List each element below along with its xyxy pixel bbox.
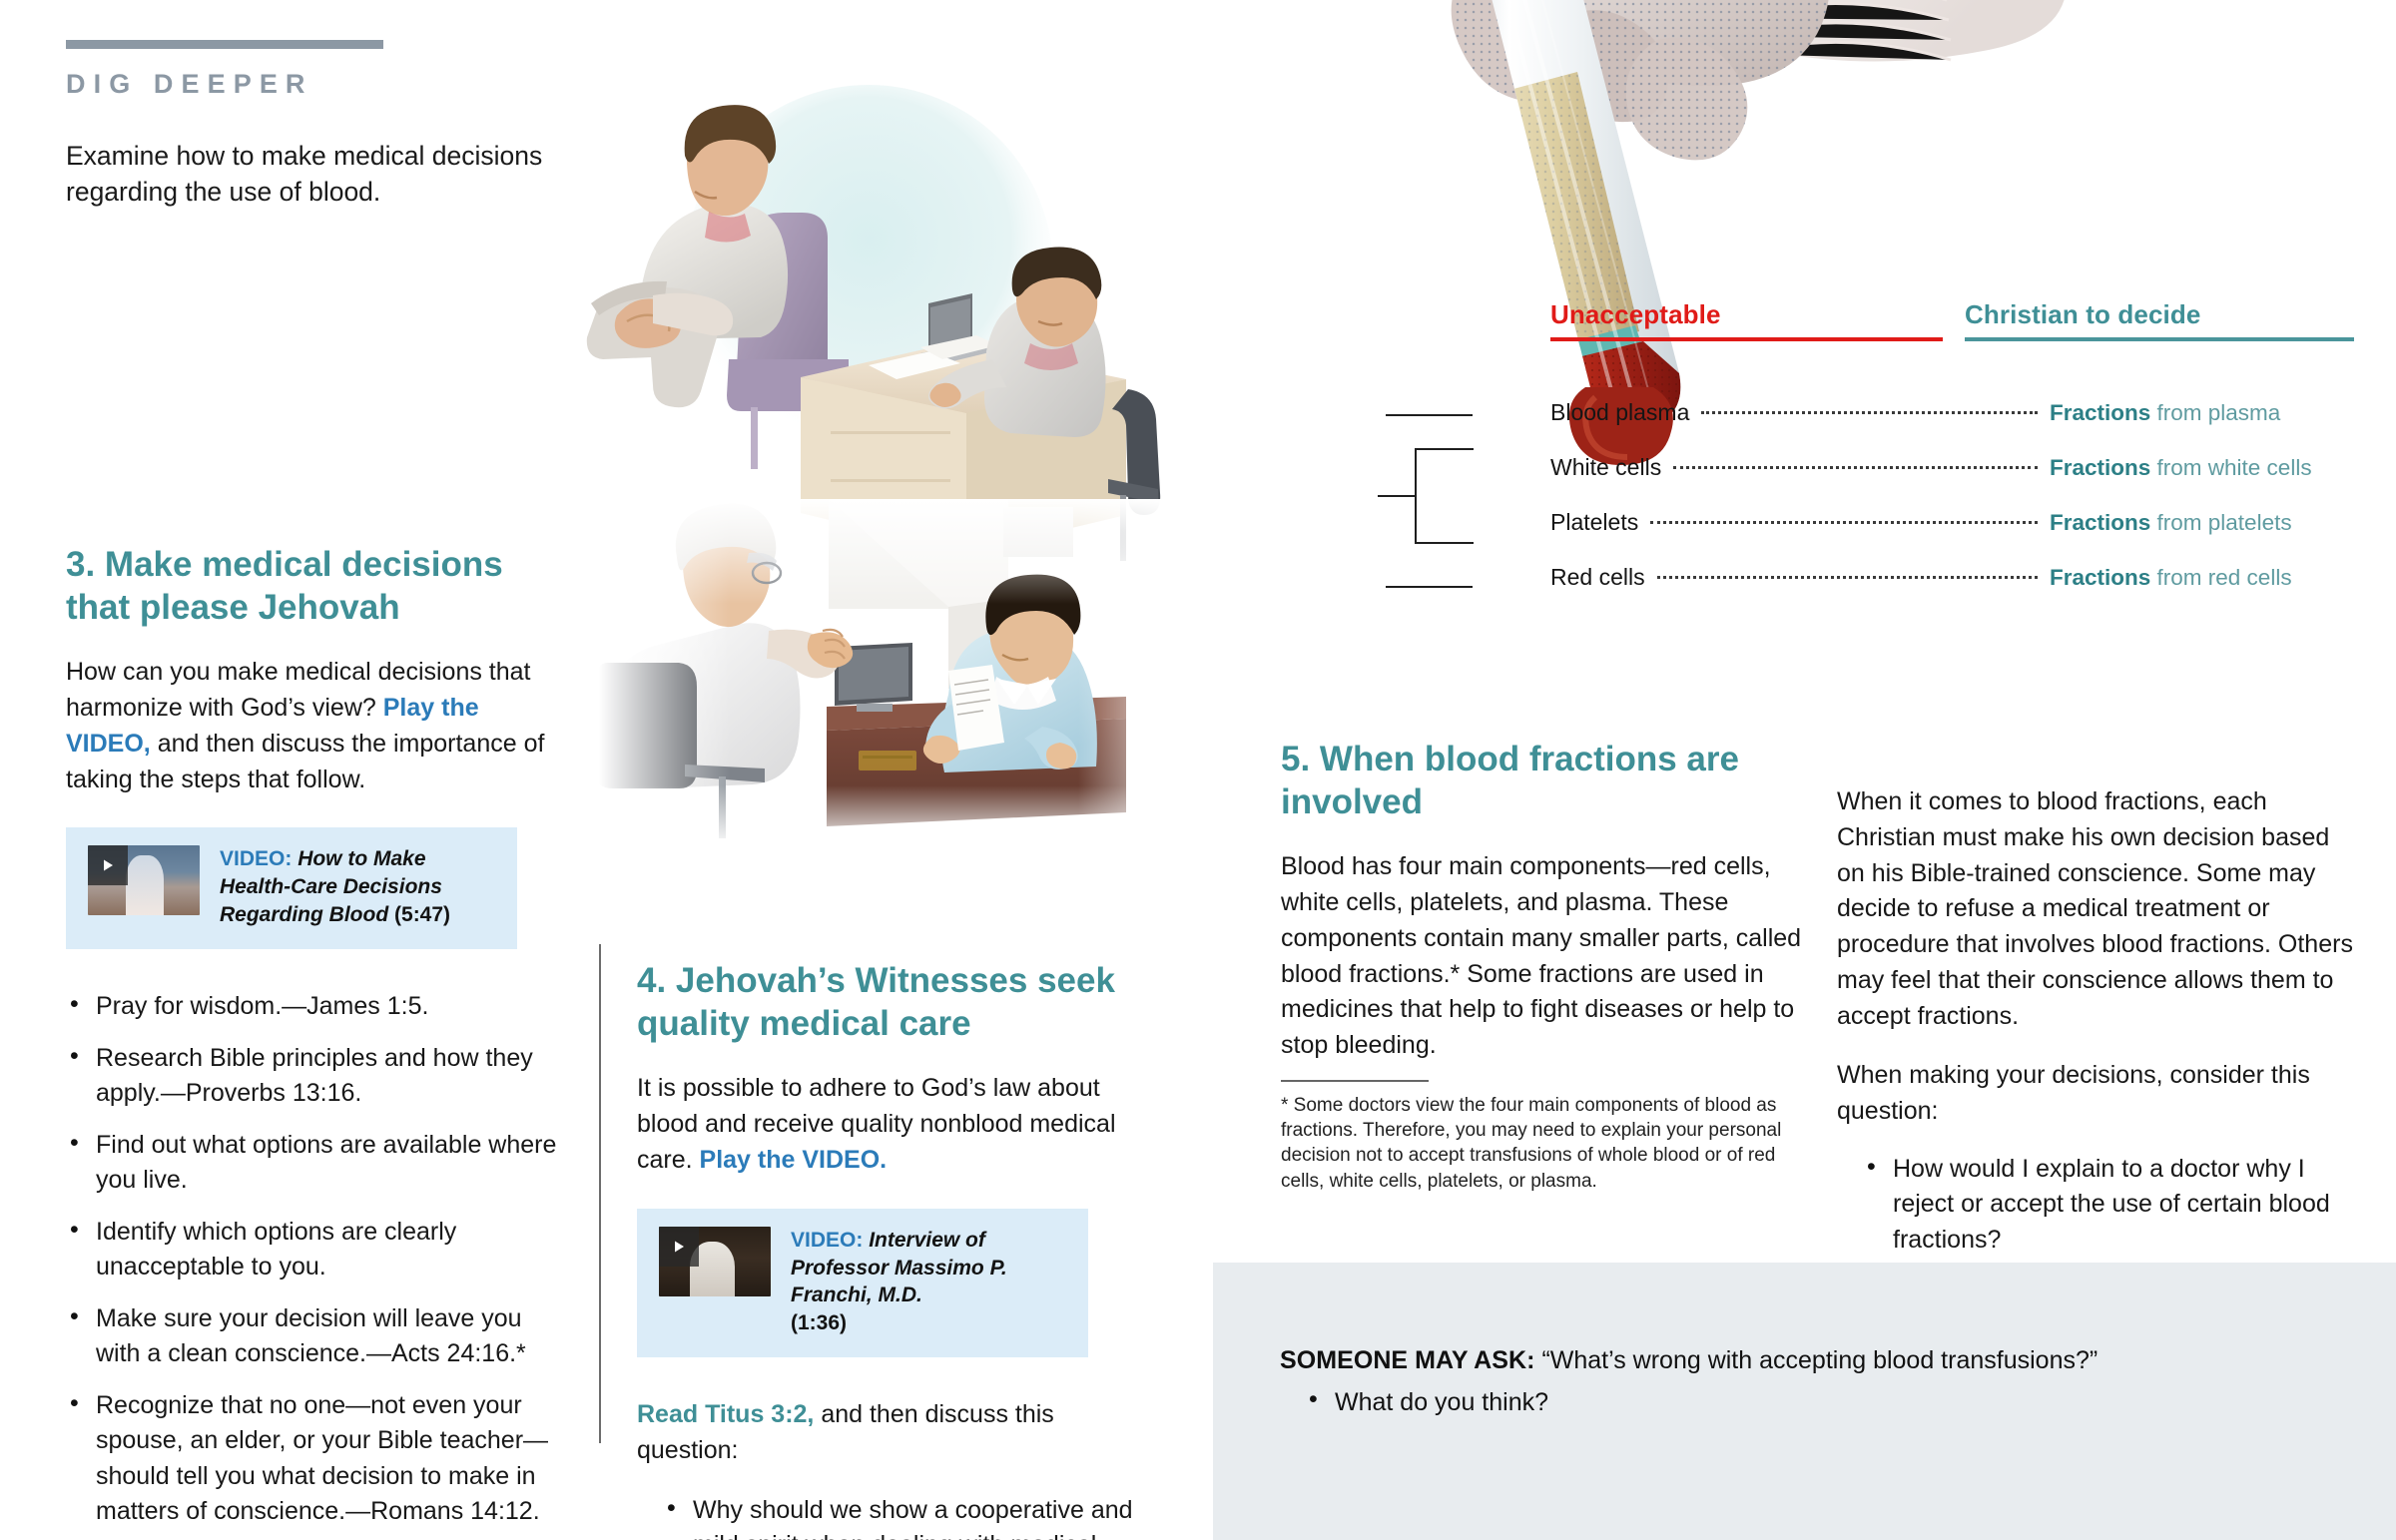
video-thumbnail[interactable] (88, 845, 200, 915)
section-4-bullets: Why should we show a cooperative and mil… (663, 1493, 1148, 1540)
someone-may-ask-bullets: What do you think? (1305, 1388, 1548, 1417)
column-header-christian-to-decide: Christian to decide (1965, 299, 2201, 330)
blood-table-headers: Unacceptable Christian to decide (1550, 299, 2349, 359)
video-card-franchi-interview[interactable]: VIDEO: Interview of Professor Massimo P.… (637, 1209, 1088, 1358)
play-icon[interactable] (659, 1227, 699, 1267)
list-item: Research Bible principles and how they a… (66, 1041, 565, 1112)
section-3-bullets: Pray for wisdom.—James 1:5. Research Bib… (66, 989, 565, 1540)
section-5-heading: 5. When blood fractions are involved (1281, 739, 1810, 823)
list-item: Pray for wisdom.—James 1:5. (66, 989, 565, 1025)
section-4: 4. Jehovah’s Witnesses seek quality medi… (637, 960, 1148, 1540)
section-5: 5. When blood fractions are involved Blo… (1281, 739, 1810, 1194)
play-video-link-4[interactable]: Play the VIDEO. (700, 1146, 888, 1174)
fraction-bold: Fractions (2050, 565, 2150, 590)
video-duration: (1:36) (791, 1311, 847, 1334)
video-label: VIDEO: (220, 847, 292, 870)
section-5-right-paragraph-1: When it comes to blood fractions, each C… (1837, 784, 2356, 1034)
list-item: Find out what options are available wher… (66, 1128, 565, 1199)
list-item: Why should we show a cooperative and mil… (663, 1493, 1148, 1540)
fraction-rest: from platelets (2150, 510, 2291, 535)
fraction-bold: Fractions (2050, 455, 2150, 480)
fraction-cell: Fractions from red cells (2050, 565, 2349, 591)
component-name: Blood plasma (1550, 399, 1689, 426)
section-4-paragraph: It is possible to adhere to God’s law ab… (637, 1071, 1148, 1178)
dot-leader (1657, 576, 2038, 579)
blood-table-rows: Blood plasma Fractions from plasma White… (1550, 399, 2349, 619)
section-3-paragraph: How can you make medical decisions that … (66, 655, 565, 797)
video-label: VIDEO: (791, 1229, 863, 1252)
column-header-unacceptable: Unacceptable (1550, 299, 1721, 330)
table-row: White cells Fractions from white cells (1550, 454, 2349, 509)
fraction-cell: Fractions from platelets (2050, 510, 2349, 536)
section-5-footnote: * Some doctors view the four main compon… (1281, 1093, 1810, 1194)
video-duration: (5:47) (394, 903, 450, 926)
section-3-heading: 3. Make medical decisions that please Je… (66, 544, 565, 629)
play-icon[interactable] (88, 845, 128, 885)
dot-leader (1650, 521, 2038, 524)
list-item: Recognize that no one—not even your spou… (66, 1388, 565, 1530)
someone-may-ask-line: SOMEONE MAY ASK: “What’s wrong with acce… (1280, 1346, 2097, 1375)
someone-may-ask-label: SOMEONE MAY ASK: (1280, 1346, 1534, 1374)
section-5-right-paragraph-2: When making your decisions, consider thi… (1837, 1058, 2356, 1130)
dig-deeper-label: DIG DEEPER (66, 69, 585, 100)
column-divider (599, 944, 601, 1443)
list-item: How would I explain to a doctor why I re… (1863, 1152, 2356, 1259)
table-row: Blood plasma Fractions from plasma (1550, 399, 2349, 454)
footnote-rule (1281, 1080, 1429, 1082)
unacceptable-underline (1550, 337, 1943, 341)
fraction-rest: from white cells (2150, 455, 2311, 480)
section-4-heading: 4. Jehovah’s Witnesses seek quality medi… (637, 960, 1148, 1045)
someone-may-ask-question: “What’s wrong with accepting blood trans… (1541, 1346, 2097, 1374)
table-row: Platelets Fractions from platelets (1550, 509, 2349, 564)
table-row: Red cells Fractions from red cells (1550, 564, 2349, 619)
video-caption: VIDEO: Interview of Professor Massimo P.… (791, 1227, 1066, 1338)
component-name: White cells (1550, 454, 1661, 481)
section-5-paragraph: Blood has four main components—red cells… (1281, 849, 1810, 1064)
fraction-rest: from red cells (2150, 565, 2291, 590)
fraction-bold: Fractions (2050, 400, 2150, 425)
dig-deeper-intro: Examine how to make medical decisions re… (66, 138, 585, 210)
read-titus-link[interactable]: Read Titus 3:2, (637, 1400, 814, 1428)
video-caption: VIDEO: How to Make Health-Care Decisions… (220, 845, 495, 929)
list-item: Identify which options are clearly unacc… (66, 1215, 565, 1285)
fraction-cell: Fractions from plasma (2050, 400, 2349, 426)
christian-underline (1965, 337, 2354, 341)
section-3: 3. Make medical decisions that please Je… (66, 544, 565, 1540)
read-scripture-line: Read Titus 3:2, and then discuss this qu… (637, 1397, 1148, 1469)
video-thumbnail[interactable] (659, 1227, 771, 1296)
fraction-cell: Fractions from white cells (2050, 455, 2349, 481)
list-item: What do you think? (1305, 1388, 1548, 1417)
fraction-rest: from plasma (2150, 400, 2280, 425)
component-name: Red cells (1550, 564, 1645, 591)
dot-leader (1701, 411, 2038, 414)
leader-lines (1378, 389, 1577, 619)
someone-may-ask-panel: SOMEONE MAY ASK: “What’s wrong with acce… (1213, 1263, 2396, 1540)
component-name: Platelets (1550, 509, 1638, 536)
page-root: Unacceptable Christian to decide Blood p… (0, 0, 2396, 1540)
section-5-right-bullets: How would I explain to a doctor why I re… (1863, 1152, 2356, 1259)
illustration-doctor-and-patient (599, 499, 1198, 848)
list-item: Make sure your decision will leave you w… (66, 1301, 565, 1372)
dot-leader (1673, 466, 2038, 469)
dig-deeper-rule (66, 40, 383, 49)
section-5-right: When it comes to blood fractions, each C… (1837, 784, 2356, 1274)
left-column: DIG DEEPER Examine how to make medical d… (66, 40, 585, 210)
video-card-health-care[interactable]: VIDEO: How to Make Health-Care Decisions… (66, 827, 517, 949)
fraction-bold: Fractions (2050, 510, 2150, 535)
